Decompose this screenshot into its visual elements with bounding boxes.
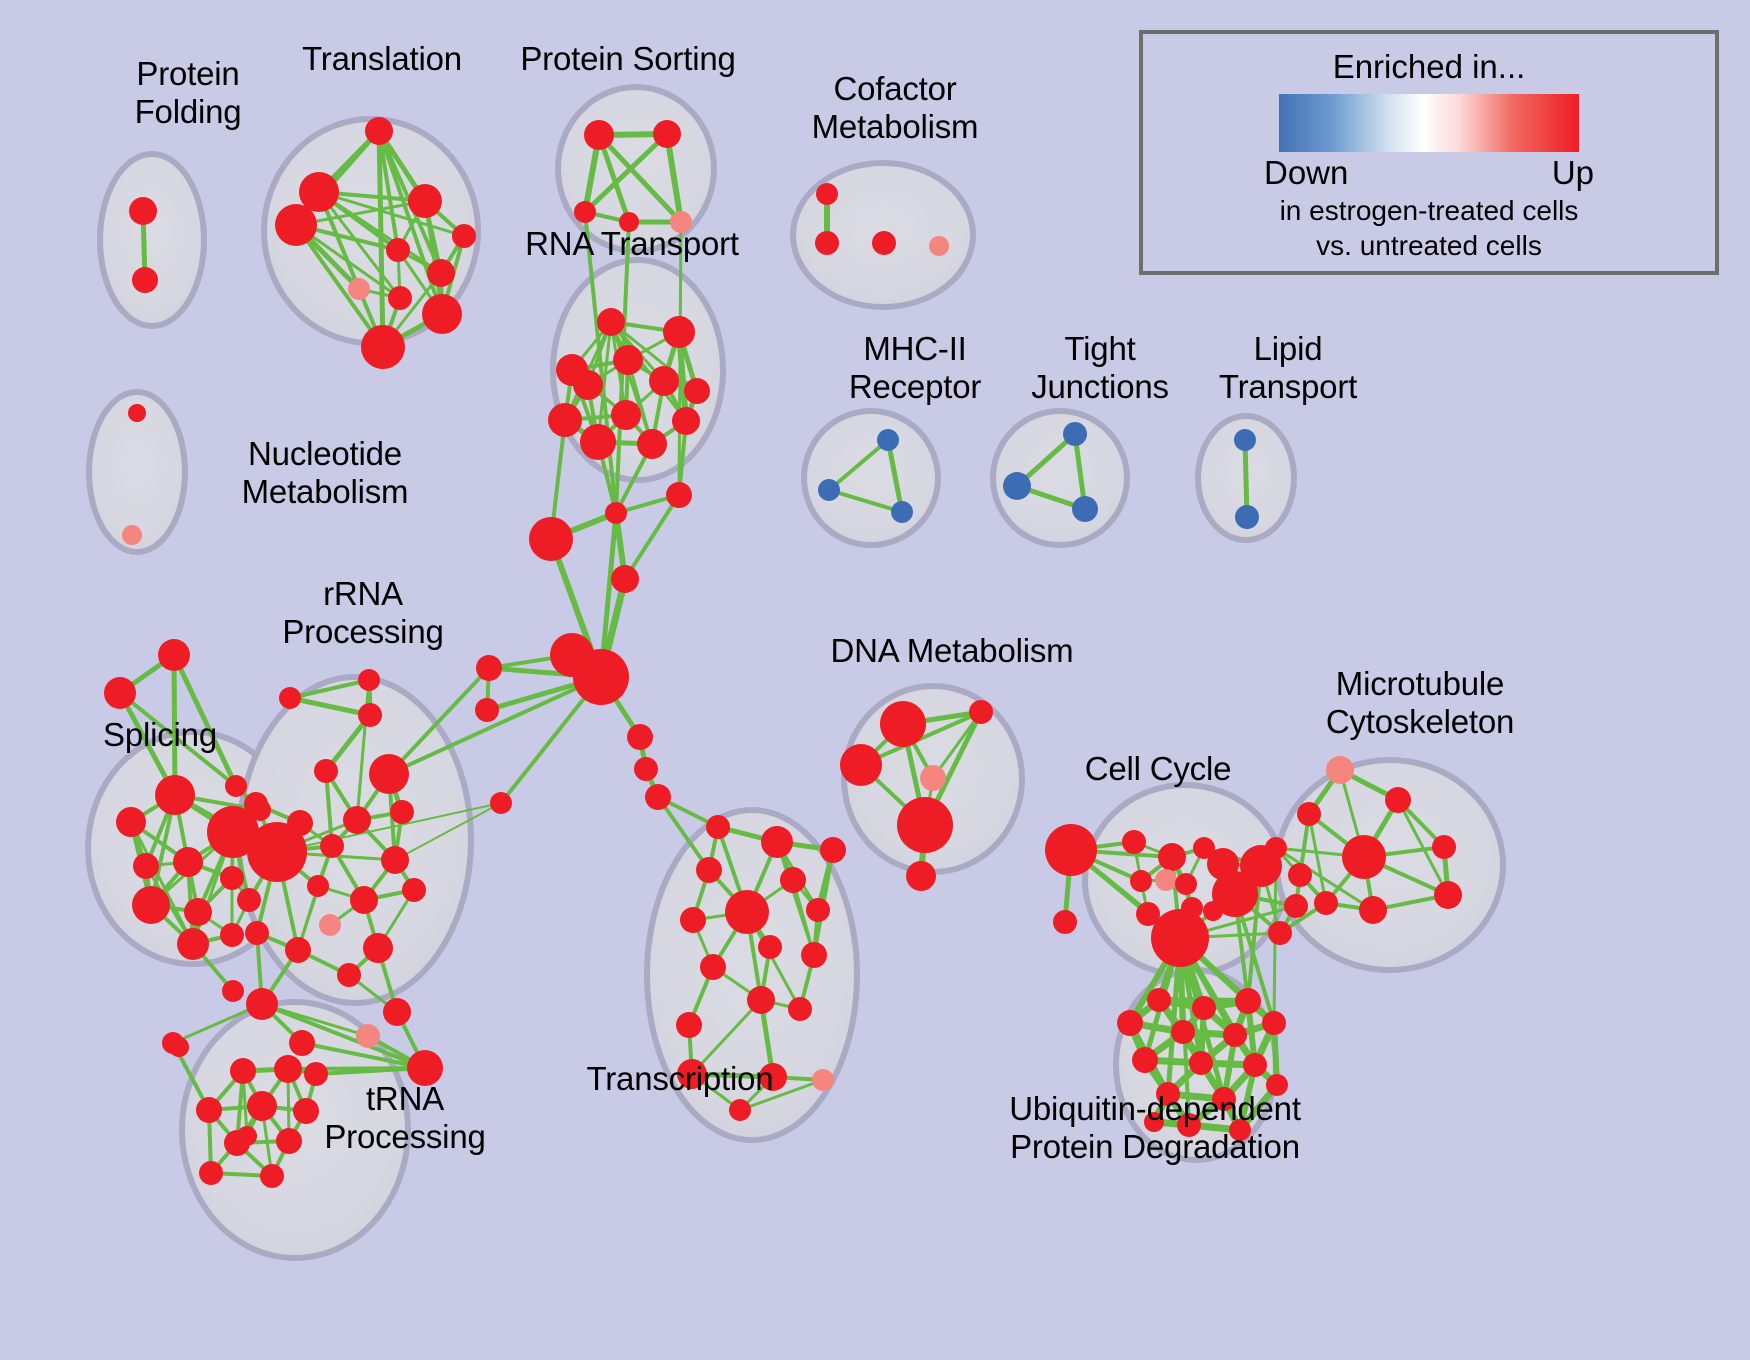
network-node[interactable] [816, 183, 838, 205]
network-node[interactable] [388, 286, 412, 310]
legend-up-label: Up [1552, 154, 1594, 192]
network-node[interactable] [369, 754, 409, 794]
network-node[interactable] [122, 525, 142, 545]
cluster-label-protein-sorting: Protein Sorting [508, 40, 748, 78]
network-node[interactable] [1158, 843, 1186, 871]
network-node[interactable] [155, 775, 195, 815]
network-node[interactable] [725, 890, 769, 934]
network-node[interactable] [872, 231, 896, 255]
cluster-label-cell-cycle: Cell Cycle [1048, 750, 1268, 788]
network-node[interactable] [320, 834, 344, 858]
network-node[interactable] [1130, 870, 1152, 892]
network-node[interactable] [1122, 830, 1146, 854]
cluster-hull-protein-folding [100, 154, 204, 326]
network-node[interactable] [490, 792, 512, 814]
network-node[interactable] [605, 502, 627, 524]
network-node[interactable] [1063, 422, 1087, 446]
network-node[interactable] [891, 501, 913, 523]
network-node[interactable] [132, 886, 170, 924]
network-node[interactable] [390, 800, 414, 824]
network-node[interactable] [220, 866, 244, 890]
network-node[interactable] [1359, 896, 1387, 924]
network-node[interactable] [408, 184, 442, 218]
network-node[interactable] [319, 914, 341, 936]
network-node[interactable] [597, 308, 625, 336]
network-node[interactable] [1234, 429, 1256, 451]
network-node[interactable] [1262, 1011, 1286, 1035]
network-node[interactable] [237, 888, 261, 912]
network-node[interactable] [132, 267, 158, 293]
network-node[interactable] [1288, 863, 1312, 887]
network-node[interactable] [680, 907, 706, 933]
network-node[interactable] [1147, 988, 1171, 1012]
legend-down-label: Down [1264, 154, 1348, 192]
network-node[interactable] [1284, 894, 1308, 918]
network-node[interactable] [815, 231, 839, 255]
network-node[interactable] [358, 669, 380, 691]
network-diagram-canvas: Protein FoldingTranslationProtein Sortin… [0, 0, 1750, 1360]
network-node[interactable] [275, 204, 317, 246]
network-node[interactable] [666, 482, 692, 508]
network-node[interactable] [1385, 787, 1411, 813]
network-node[interactable] [573, 649, 629, 705]
network-node[interactable] [225, 775, 247, 797]
network-node[interactable] [348, 278, 370, 300]
network-node[interactable] [812, 1069, 834, 1091]
network-node[interactable] [613, 345, 643, 375]
network-node[interactable] [196, 1097, 222, 1123]
network-node[interactable] [906, 861, 936, 891]
cluster-label-protein-folding: Protein Folding [88, 55, 288, 131]
network-node[interactable] [199, 1161, 223, 1185]
network-node[interactable] [358, 703, 382, 727]
network-node[interactable] [116, 807, 146, 837]
network-node[interactable] [634, 757, 658, 781]
network-node[interactable] [245, 921, 269, 945]
network-node[interactable] [365, 117, 393, 145]
network-node[interactable] [1155, 869, 1177, 891]
network-node[interactable] [1132, 1047, 1158, 1073]
network-node[interactable] [427, 259, 455, 287]
cluster-label-rna-transport: RNA Transport [512, 225, 752, 263]
cluster-label-tight-junctions: Tight Junctions [990, 330, 1210, 406]
network-node[interactable] [696, 857, 722, 883]
network-node[interactable] [381, 846, 409, 874]
network-node[interactable] [580, 424, 616, 460]
network-node[interactable] [653, 120, 681, 148]
legend-title: Enriched in... [1333, 48, 1526, 86]
network-node[interactable] [645, 784, 671, 810]
network-node[interactable] [897, 797, 953, 853]
network-node[interactable] [476, 655, 502, 681]
network-node[interactable] [729, 1099, 751, 1121]
network-node[interactable] [758, 935, 782, 959]
network-node[interactable] [129, 197, 157, 225]
network-node[interactable] [574, 201, 596, 223]
network-node[interactable] [1192, 996, 1216, 1020]
network-node[interactable] [260, 1164, 284, 1188]
network-node[interactable] [880, 701, 926, 747]
network-node[interactable] [840, 744, 882, 786]
network-node[interactable] [584, 120, 614, 150]
network-node[interactable] [274, 1055, 302, 1083]
network-node[interactable] [1434, 881, 1462, 909]
network-node[interactable] [820, 837, 846, 863]
network-node[interactable] [104, 677, 136, 709]
network-node[interactable] [1203, 901, 1223, 921]
network-node[interactable] [929, 236, 949, 256]
cluster-label-transcription: Transcription [560, 1060, 800, 1098]
network-node[interactable] [184, 898, 212, 926]
network-node[interactable] [684, 378, 710, 404]
legend-color-gradient [1279, 94, 1579, 152]
network-node[interactable] [969, 700, 993, 724]
network-node[interactable] [1053, 910, 1077, 934]
network-node[interactable] [177, 928, 209, 960]
cluster-label-dna-metabolism: DNA Metabolism [822, 632, 1082, 670]
network-node[interactable] [676, 1012, 702, 1038]
cluster-label-translation: Translation [262, 40, 502, 78]
network-node[interactable] [246, 988, 278, 1020]
cluster-label-splicing: Splicing [60, 716, 260, 754]
network-node[interactable] [169, 1037, 189, 1057]
network-node[interactable] [422, 294, 462, 334]
network-node[interactable] [350, 886, 378, 914]
network-node[interactable] [1117, 1010, 1143, 1036]
network-node[interactable] [1151, 909, 1209, 967]
network-node[interactable] [230, 1058, 256, 1084]
network-node[interactable] [611, 565, 639, 593]
network-node[interactable] [1235, 505, 1259, 529]
cluster-label-ubiquitin-degradation: Ubiquitin-dependent Protein Degradation [985, 1090, 1325, 1166]
network-node[interactable] [700, 954, 726, 980]
network-node[interactable] [133, 853, 159, 879]
network-node[interactable] [747, 986, 775, 1014]
network-node[interactable] [1072, 496, 1098, 522]
network-node[interactable] [663, 316, 695, 348]
network-node[interactable] [1175, 873, 1197, 895]
network-node[interactable] [1432, 835, 1456, 859]
network-node[interactable] [383, 998, 411, 1026]
network-node[interactable] [801, 942, 827, 968]
network-node[interactable] [627, 724, 653, 750]
network-node[interactable] [1243, 1053, 1267, 1077]
network-node[interactable] [1297, 802, 1321, 826]
network-node[interactable] [573, 370, 603, 400]
network-node[interactable] [247, 1091, 277, 1121]
network-node[interactable] [529, 517, 573, 561]
network-node[interactable] [402, 878, 426, 902]
network-node[interactable] [637, 429, 667, 459]
cluster-label-microtubule-cytoskeleton: Microtubule Cytoskeleton [1280, 665, 1560, 741]
network-node[interactable] [222, 980, 244, 1002]
network-node[interactable] [361, 325, 405, 369]
network-node[interactable] [1003, 472, 1031, 500]
cluster-label-trna-processing: tRNA Processing [290, 1080, 520, 1156]
network-node[interactable] [780, 867, 806, 893]
network-node[interactable] [220, 923, 244, 947]
network-node[interactable] [343, 806, 371, 834]
network-node[interactable] [128, 404, 146, 422]
cluster-label-nucleotide-metabolism: Nucleotide Metabolism [195, 435, 455, 511]
network-node[interactable] [173, 847, 203, 877]
network-node[interactable] [877, 429, 899, 451]
legend-caption-line1: in estrogen-treated cells [1280, 194, 1579, 227]
network-node[interactable] [237, 1126, 257, 1146]
cluster-label-lipid-transport: Lipid Transport [1178, 330, 1398, 406]
network-node[interactable] [287, 810, 313, 836]
network-node[interactable] [920, 765, 946, 791]
network-node[interactable] [706, 815, 730, 839]
cluster-label-cofactor-metabolism: Cofactor Metabolism [780, 70, 1010, 146]
network-node[interactable] [1268, 921, 1292, 945]
network-node[interactable] [788, 997, 812, 1021]
network-node[interactable] [337, 963, 361, 987]
network-node[interactable] [299, 172, 339, 212]
network-node[interactable] [806, 898, 830, 922]
network-node[interactable] [1171, 1020, 1195, 1044]
network-node[interactable] [1223, 1023, 1247, 1047]
network-node[interactable] [1189, 1051, 1213, 1075]
network-node[interactable] [158, 639, 190, 671]
network-node[interactable] [363, 933, 393, 963]
network-node[interactable] [1235, 988, 1261, 1014]
legend-caption-line2: vs. untreated cells [1316, 229, 1542, 262]
network-node[interactable] [1342, 835, 1386, 879]
network-node[interactable] [307, 875, 329, 897]
network-node[interactable] [672, 407, 700, 435]
network-node[interactable] [244, 792, 268, 816]
network-node[interactable] [649, 366, 679, 396]
cluster-hull-mhc-ii-receptor [804, 411, 938, 545]
network-node[interactable] [611, 400, 641, 430]
legend-panel: Enriched in... Down Up in estrogen-treat… [1139, 30, 1719, 275]
network-node[interactable] [1045, 824, 1097, 876]
network-node[interactable] [356, 1024, 380, 1048]
network-node[interactable] [818, 479, 840, 501]
network-node[interactable] [452, 224, 476, 248]
network-node[interactable] [1314, 891, 1338, 915]
network-node[interactable] [289, 1030, 315, 1056]
network-node[interactable] [1265, 837, 1287, 859]
network-node[interactable] [1326, 756, 1354, 784]
network-node[interactable] [475, 698, 499, 722]
network-node[interactable] [386, 238, 410, 262]
network-node[interactable] [279, 687, 301, 709]
network-node[interactable] [285, 937, 311, 963]
network-node[interactable] [761, 826, 793, 858]
network-node[interactable] [314, 759, 338, 783]
network-node[interactable] [548, 403, 582, 437]
cluster-label-rrna-processing: rRNA Processing [248, 575, 478, 651]
